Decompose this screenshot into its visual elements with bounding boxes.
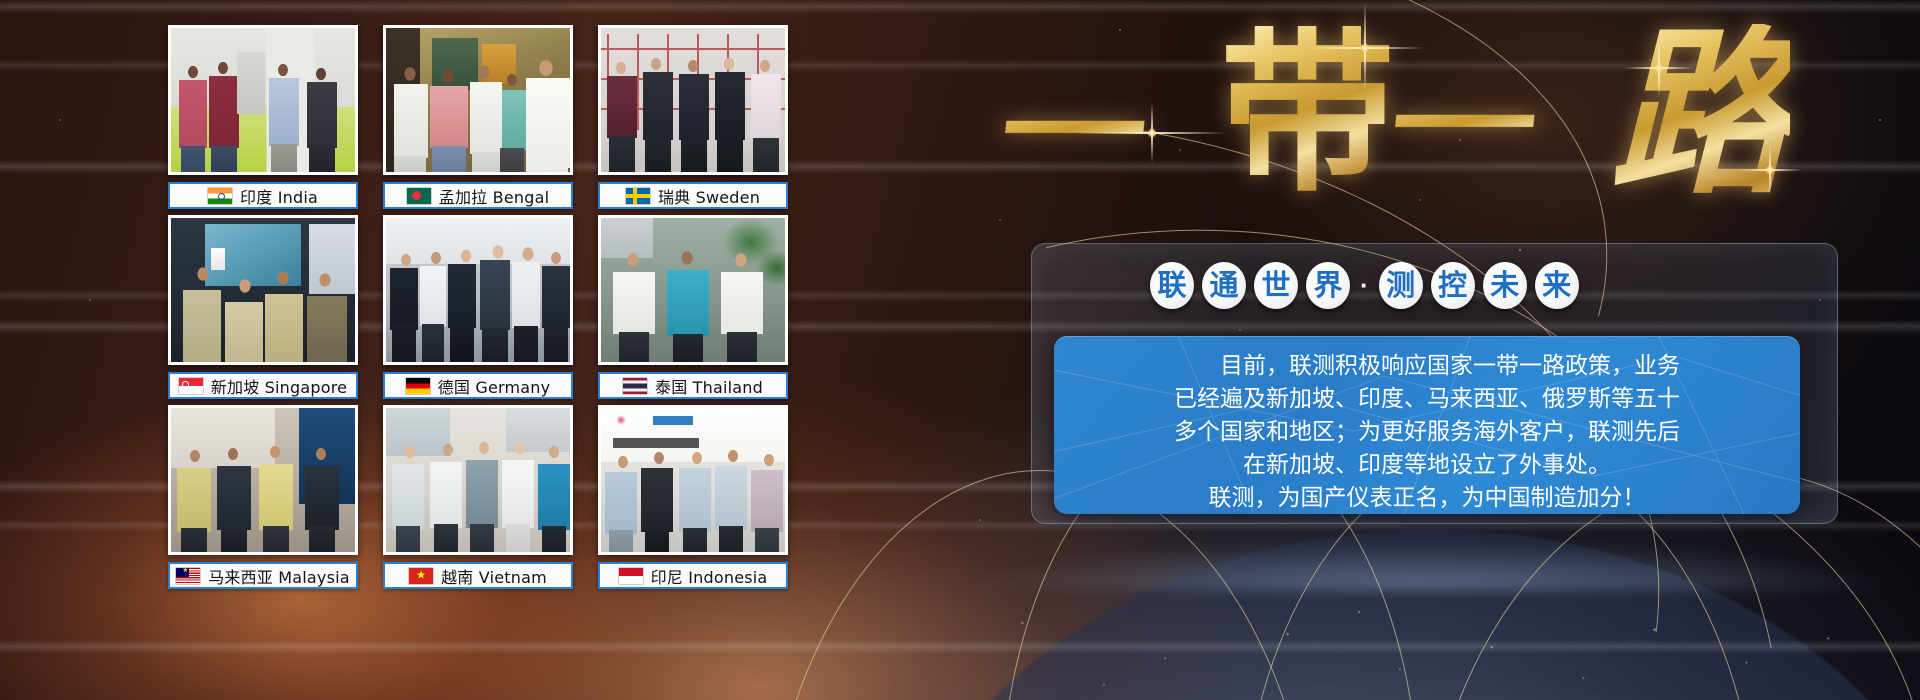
photo-vietnam	[383, 405, 573, 555]
country-label-text: 越南 Vietnam	[441, 564, 547, 588]
slogan-badge: 测	[1379, 262, 1423, 309]
flag-sweden-icon	[626, 188, 650, 204]
photo-card[interactable]: 瑞典 Sweden	[598, 25, 788, 215]
slogan-char: 控	[1438, 271, 1467, 300]
headline-calligraphy: 一 带 一 路	[1010, 8, 1910, 218]
photo-card[interactable]: 德国 Germany	[383, 215, 573, 405]
banner-stage: 印度 India 孟加拉 Bengal	[0, 0, 1920, 700]
country-label: 越南 Vietnam	[383, 562, 573, 589]
slogan-char: 世	[1261, 271, 1290, 300]
country-label-text: 印尼 Indonesia	[651, 564, 768, 588]
slogan-badges: 联 通 世 界 · 测 控 未 来	[1150, 262, 1579, 309]
slogan-badge: 界	[1306, 262, 1350, 309]
slogan-char: 测	[1386, 271, 1415, 300]
description-line: 多个国家和地区；为更好服务海外客户，联测先后	[1072, 416, 1782, 449]
flag-singapore-icon	[179, 378, 203, 394]
photo-card[interactable]: 新加坡 Singapore	[168, 215, 358, 405]
slogan-char: 界	[1313, 271, 1342, 300]
slogan-badge: 未	[1483, 262, 1527, 309]
flag-germany-icon	[406, 378, 430, 394]
flag-malaysia-icon	[176, 568, 200, 584]
country-label: 新加坡 Singapore	[168, 372, 358, 399]
country-label-text: 泰国 Thailand	[655, 374, 763, 398]
slogan-badge: 世	[1254, 262, 1298, 309]
country-label: 马来西亚 Malaysia	[168, 562, 358, 589]
photo-indonesia	[598, 405, 788, 555]
photo-card[interactable]: 越南 Vietnam	[383, 405, 573, 595]
slogan-badge: 联	[1150, 262, 1194, 309]
country-photo-grid: 印度 India 孟加拉 Bengal	[168, 25, 788, 595]
slogan-separator: ·	[1358, 270, 1371, 301]
country-label: 瑞典 Sweden	[598, 182, 788, 209]
photo-thailand	[598, 215, 788, 365]
photo-germany	[383, 215, 573, 365]
photo-india	[168, 25, 358, 175]
slogan-badge: 控	[1431, 262, 1475, 309]
country-label-text: 德国 Germany	[438, 374, 551, 398]
slogan-char: 联	[1157, 271, 1186, 300]
photo-sweden	[598, 25, 788, 175]
description-panel: 目前，联测积极响应国家一带一路政策，业务 已经遍及新加坡、印度、马来西亚、俄罗斯…	[1054, 336, 1800, 514]
slogan-char: 未	[1490, 271, 1519, 300]
photo-card[interactable]: 印尼 Indonesia	[598, 405, 788, 595]
description-line: 联测，为国产仪表正名，为中国制造加分！	[1072, 482, 1782, 514]
description-line: 目前，联测积极响应国家一带一路政策，业务	[1072, 350, 1782, 383]
photo-card[interactable]: 马来西亚 Malaysia	[168, 405, 358, 595]
country-label: 印尼 Indonesia	[598, 562, 788, 589]
slogan-char: 通	[1209, 271, 1238, 300]
photo-bengal	[383, 25, 573, 175]
country-label: 德国 Germany	[383, 372, 573, 399]
photo-malaysia	[168, 405, 358, 555]
headline-char-1: 一	[995, 78, 1152, 186]
photo-card[interactable]: 印度 India	[168, 25, 358, 215]
country-label-text: 马来西亚 Malaysia	[208, 564, 350, 588]
country-label-text: 印度 India	[240, 184, 318, 208]
headline-char-2: 带	[1220, 26, 1395, 201]
photo-singapore	[168, 215, 358, 365]
headline-char-4: 路	[1610, 24, 1790, 204]
slogan-char: 来	[1542, 271, 1571, 300]
description-line: 已经遍及新加坡、印度、马来西亚、俄罗斯等五十	[1072, 383, 1782, 416]
flag-thailand-icon	[623, 378, 647, 394]
description-line: 在新加坡、印度等地设立了外事处。	[1072, 449, 1782, 482]
flag-indonesia-icon	[619, 568, 643, 584]
flag-bangladesh-icon	[407, 188, 431, 204]
country-label-text: 瑞典 Sweden	[658, 184, 760, 208]
photo-card[interactable]: 孟加拉 Bengal	[383, 25, 573, 215]
slogan-badge: 来	[1535, 262, 1579, 309]
description-text: 目前，联测积极响应国家一带一路政策，业务 已经遍及新加坡、印度、马来西亚、俄罗斯…	[1054, 336, 1800, 514]
slogan-badge: 通	[1202, 262, 1246, 309]
photo-card[interactable]: 泰国 Thailand	[598, 215, 788, 405]
flag-vietnam-icon	[409, 568, 433, 584]
country-label: 印度 India	[168, 182, 358, 209]
headline-char-3: 一	[1385, 72, 1542, 180]
country-label: 孟加拉 Bengal	[383, 182, 573, 209]
country-label-text: 孟加拉 Bengal	[439, 184, 549, 208]
flag-india-icon	[208, 188, 232, 204]
country-label: 泰国 Thailand	[598, 372, 788, 399]
country-label-text: 新加坡 Singapore	[211, 374, 347, 398]
